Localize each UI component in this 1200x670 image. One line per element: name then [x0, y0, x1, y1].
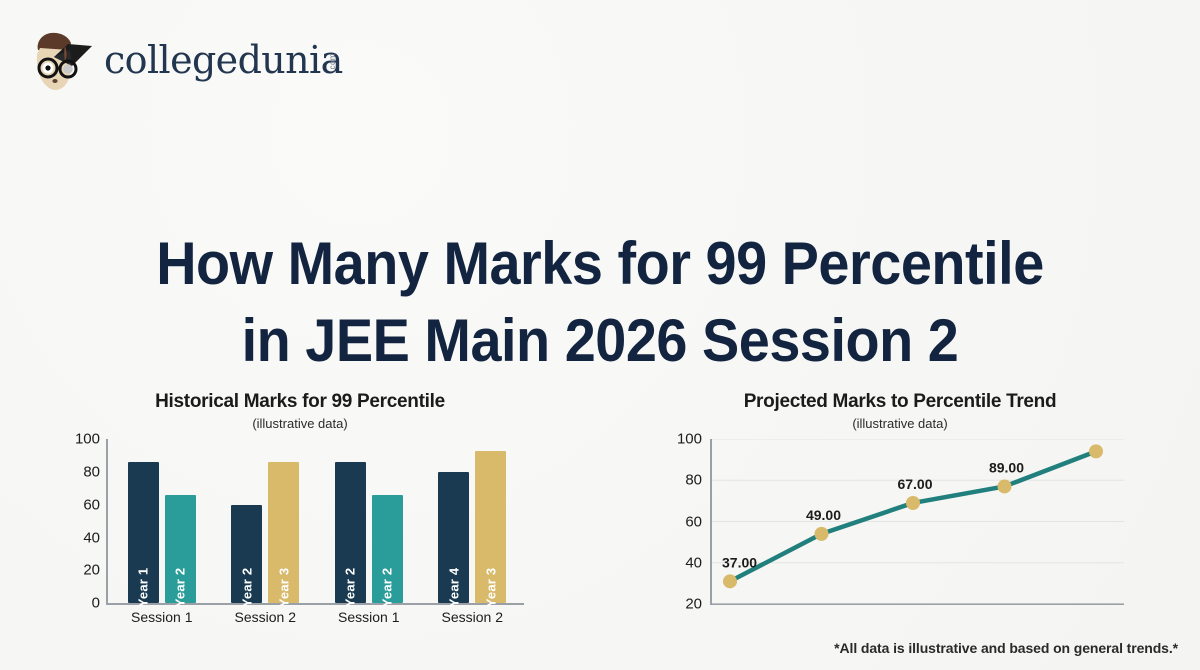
data-point-label: 37.00 [722, 555, 757, 571]
bar-chart-y-tick: 20 [83, 562, 100, 579]
bar-chart-panel: Historical Marks for 99 Percentile (illu… [0, 392, 600, 639]
bar-chart-title: Historical Marks for 99 Percentile [0, 392, 600, 413]
graduate-mascot-icon [24, 24, 94, 96]
line-chart-y-tick: 100 [677, 431, 702, 448]
bar[interactable]: Year 1 [128, 462, 159, 603]
bar-value-label: Year 3 [483, 568, 498, 608]
bar-chart-y-tick: 40 [83, 529, 100, 546]
bar-chart-x-axis-labels: Session 1Session 2Session 1Session 2 [110, 609, 524, 625]
data-point-marker[interactable] [815, 527, 829, 541]
bar-value-label: Year 2 [239, 568, 254, 608]
data-point-label: 89.00 [989, 460, 1024, 476]
data-point-marker[interactable] [998, 480, 1012, 494]
line-chart-plot-area: 10080604020 37.0049.0067.0089.0099.00 [670, 439, 1130, 639]
disclaimer-text: *All data is illustrative and based on g… [834, 640, 1178, 656]
bar-chart-y-tick: 60 [83, 496, 100, 513]
bar-value-label: Year 4 [446, 568, 461, 608]
bar-chart-subtitle: (illustrative data) [0, 417, 600, 431]
line-chart-y-tick: 80 [685, 472, 702, 489]
bar-group: Year 2Year 3 [214, 439, 318, 603]
bar-chart-y-tick: 100 [75, 431, 100, 448]
bar-group: Year 2Year 2 [317, 439, 421, 603]
charts-row: Historical Marks for 99 Percentile (illu… [0, 392, 1200, 639]
bar[interactable]: Year 2 [231, 505, 262, 603]
data-point-marker[interactable] [1089, 445, 1103, 459]
bar-chart-x-tick: Session 1 [110, 609, 214, 625]
line-chart-y-tick: 20 [685, 596, 702, 613]
bar-chart-y-axis: 100806040200 [70, 439, 100, 604]
line-chart-y-tick: 60 [685, 513, 702, 530]
line-chart-panel: Projected Marks to Percentile Trend (ill… [600, 392, 1200, 639]
data-point-label: 67.00 [897, 476, 932, 492]
bar[interactable]: Year 3 [475, 451, 506, 604]
line-chart-y-tick: 40 [685, 554, 702, 571]
bar[interactable]: Year 2 [165, 495, 196, 603]
page-title-line-2: in JEE Main 2026 Session 2 [42, 303, 1158, 380]
data-point-label: 99.00 [1087, 439, 1122, 440]
bar[interactable]: Year 2 [372, 495, 403, 603]
bar[interactable]: Year 4 [438, 472, 469, 603]
bar-group: Year 1Year 2 [110, 439, 214, 603]
bar-value-label: Year 2 [343, 568, 358, 608]
line-chart-title: Projected Marks to Percentile Trend [600, 392, 1200, 413]
brand-name: collegedunia [104, 38, 343, 82]
bar-value-label: Year 3 [276, 568, 291, 608]
brand-wordmark: collegedunia .com [104, 41, 343, 79]
bar-chart-y-axis-line [106, 439, 108, 604]
data-point-label: 49.00 [806, 507, 841, 523]
data-point-marker[interactable] [906, 496, 920, 510]
page-title: How Many Marks for 99 Percentile in JEE … [42, 226, 1158, 380]
bar-chart-y-tick: 80 [83, 463, 100, 480]
bar-chart-x-tick: Session 2 [421, 609, 525, 625]
bar[interactable]: Year 2 [335, 462, 366, 603]
bar-value-label: Year 2 [380, 568, 395, 608]
bar-group: Year 4Year 3 [421, 439, 525, 603]
bar-chart-y-tick: 0 [92, 595, 100, 612]
infographic-page: collegedunia .com How Many Marks for 99 … [0, 0, 1200, 670]
bar-value-label: Year 1 [136, 568, 151, 608]
bar[interactable]: Year 3 [268, 462, 299, 603]
line-chart-svg: 37.0049.0067.0089.0099.00 [712, 439, 1124, 604]
data-point-marker[interactable] [723, 575, 737, 589]
line-chart-subtitle: (illustrative data) [600, 417, 1200, 431]
bar-chart-bars: Year 1Year 2Year 2Year 3Year 2Year 2Year… [110, 439, 524, 603]
brand-logo[interactable]: collegedunia .com [24, 24, 343, 96]
trend-line [730, 452, 1096, 582]
bar-chart-x-tick: Session 1 [317, 609, 421, 625]
bar-value-label: Year 2 [173, 568, 188, 608]
brand-tld: .com [329, 53, 337, 72]
page-title-line-1: How Many Marks for 99 Percentile [42, 226, 1158, 303]
line-chart-y-axis: 10080604020 [670, 439, 702, 604]
bar-chart-plot-area: 100806040200 Year 1Year 2Year 2Year 3Yea… [70, 439, 530, 639]
bar-chart-x-tick: Session 2 [214, 609, 318, 625]
